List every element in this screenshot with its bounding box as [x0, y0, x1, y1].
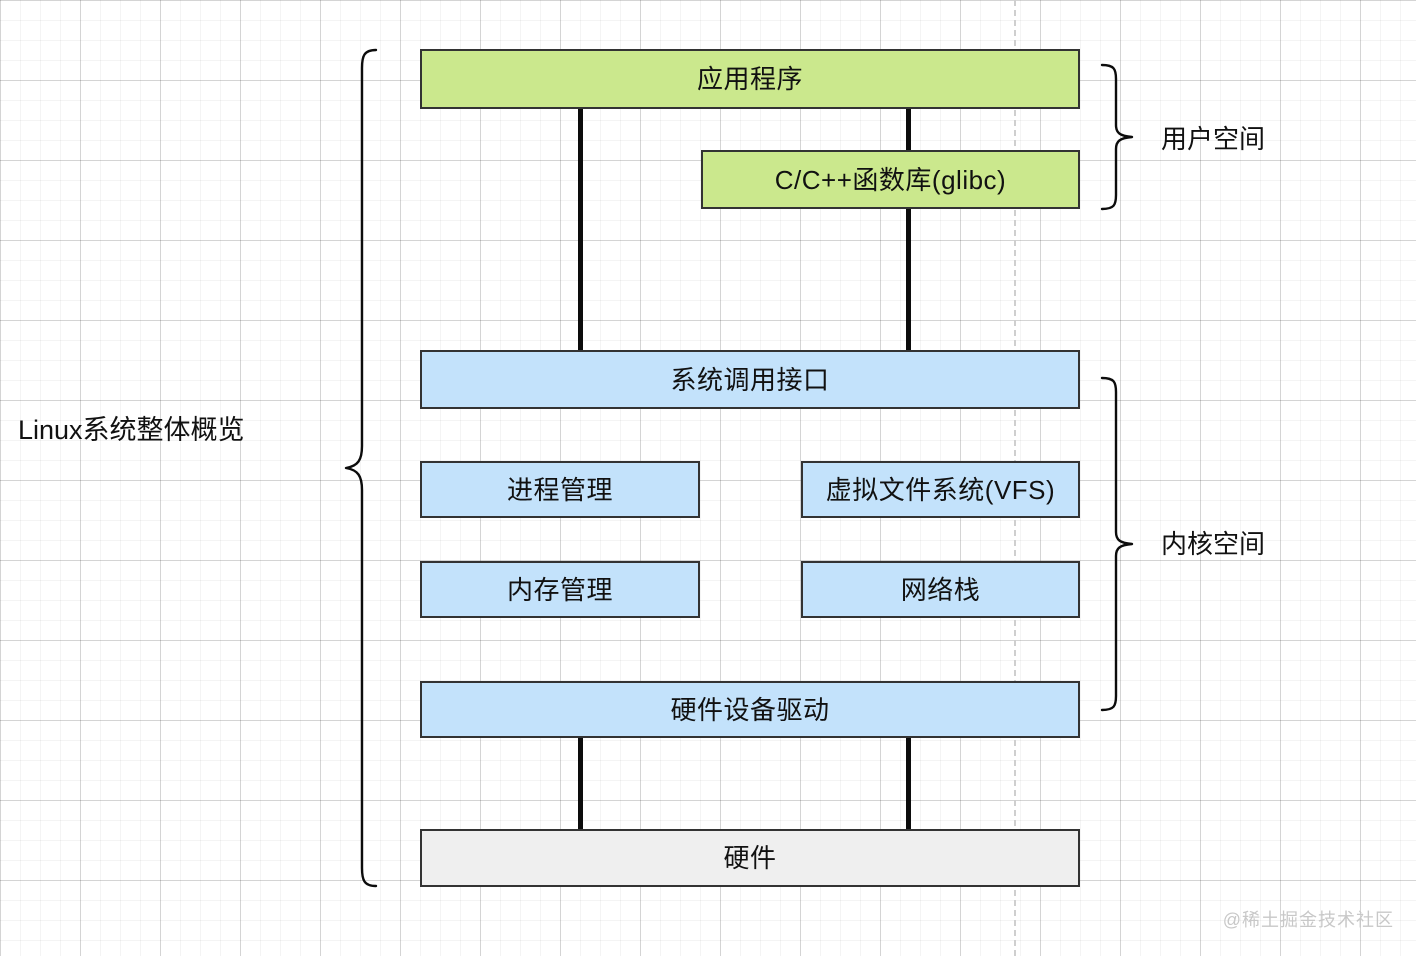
connector-driver-to-hardware-left [578, 735, 583, 833]
connector-driver-to-hardware-right [906, 735, 911, 833]
watermark: @稀土掘金技术社区 [1223, 906, 1394, 932]
diagram-canvas: 应用程序 C/C++函数库(glibc) 系统调用接口 进程管理 虚拟文件系统(… [0, 0, 1416, 956]
box-application-label: 应用程序 [697, 66, 803, 92]
box-network-stack[interactable]: 网络栈 [801, 561, 1080, 618]
box-memory-management-label: 内存管理 [507, 577, 613, 603]
box-device-driver[interactable]: 硬件设备驱动 [420, 681, 1080, 738]
connector-application-to-syscall-left [578, 105, 583, 360]
box-process-management[interactable]: 进程管理 [420, 461, 700, 518]
box-glibc[interactable]: C/C++函数库(glibc) [701, 150, 1080, 209]
box-syscall-interface-label: 系统调用接口 [670, 367, 829, 393]
box-hardware[interactable]: 硬件 [420, 829, 1080, 887]
box-memory-management[interactable]: 内存管理 [420, 561, 700, 618]
box-syscall-interface[interactable]: 系统调用接口 [420, 350, 1080, 409]
label-user-space: 用户空间 [1161, 126, 1265, 152]
box-network-stack-label: 网络栈 [901, 577, 981, 603]
brace-user-space [1098, 63, 1146, 211]
box-application[interactable]: 应用程序 [420, 49, 1080, 109]
label-kernel-space: 内核空间 [1161, 531, 1265, 557]
box-virtual-file-system[interactable]: 虚拟文件系统(VFS) [801, 461, 1080, 518]
diagram-title: Linux系统整体概览 [18, 417, 245, 444]
box-hardware-label: 硬件 [723, 845, 776, 871]
box-device-driver-label: 硬件设备驱动 [670, 697, 829, 723]
box-process-management-label: 进程管理 [507, 477, 613, 503]
box-glibc-label: C/C++函数库(glibc) [775, 167, 1006, 193]
connector-application-to-glibc-right [906, 105, 911, 155]
brace-overview [332, 48, 380, 888]
connector-glibc-to-syscall [906, 205, 911, 360]
brace-kernel-space [1098, 376, 1146, 712]
box-virtual-file-system-label: 虚拟文件系统(VFS) [826, 477, 1055, 503]
